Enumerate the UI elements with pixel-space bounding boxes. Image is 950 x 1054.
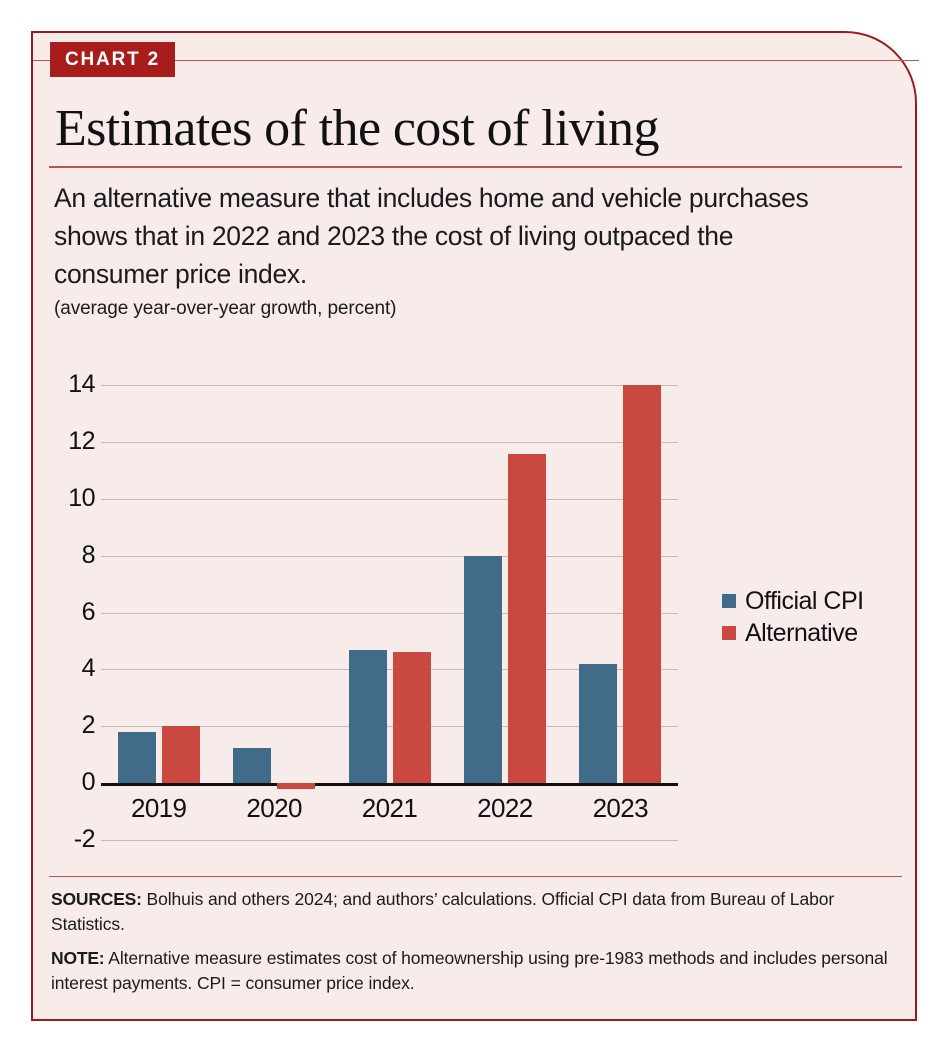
bar-alternative-2021 bbox=[393, 652, 431, 783]
y-axis-tick-label: -2 bbox=[43, 825, 95, 854]
legend-item[interactable]: Alternative bbox=[722, 617, 864, 649]
gridline bbox=[101, 556, 678, 557]
x-axis-tick-label: 2023 bbox=[560, 793, 680, 824]
y-axis-tick-label: 14 bbox=[43, 370, 95, 399]
y-axis-tick-label: 12 bbox=[43, 427, 95, 456]
sources-text: Bolhuis and others 2024; and authors’ ca… bbox=[51, 889, 834, 934]
bar-alternative-2022 bbox=[508, 454, 546, 783]
x-axis-tick-label: 2022 bbox=[445, 793, 565, 824]
gridline bbox=[101, 442, 678, 443]
chart-legend: Official CPIAlternative bbox=[722, 585, 864, 649]
sources-note: SOURCES: Bolhuis and others 2024; and au… bbox=[51, 887, 894, 937]
legend-item[interactable]: Official CPI bbox=[722, 585, 864, 617]
bar-official-cpi-2021 bbox=[349, 650, 387, 783]
y-axis-tick-label: 8 bbox=[43, 541, 95, 570]
y-axis-tick-label: 4 bbox=[43, 654, 95, 683]
y-axis-tick-label: 0 bbox=[43, 768, 95, 797]
y-axis-tick-label: 10 bbox=[43, 484, 95, 513]
sources-label: SOURCES: bbox=[51, 889, 142, 909]
bar-official-cpi-2020 bbox=[233, 748, 271, 784]
gridline bbox=[101, 613, 678, 614]
zero-axis-line bbox=[101, 783, 678, 786]
x-axis-tick-label: 2021 bbox=[330, 793, 450, 824]
bar-alternative-2020 bbox=[277, 783, 315, 789]
note-text: Alternative measure estimates cost of ho… bbox=[51, 948, 888, 993]
x-axis-tick-label: 2019 bbox=[99, 793, 219, 824]
bar-official-cpi-2022 bbox=[464, 556, 502, 783]
chart-note: NOTE: Alternative measure estimates cost… bbox=[51, 946, 894, 996]
legend-swatch-icon bbox=[722, 594, 736, 608]
bar-alternative-2019 bbox=[162, 726, 200, 783]
bar-official-cpi-2023 bbox=[579, 664, 617, 783]
legend-label: Alternative bbox=[745, 619, 858, 648]
bar-alternative-2023 bbox=[623, 385, 661, 783]
bar-official-cpi-2019 bbox=[118, 732, 156, 783]
chart-card: CHART 2 Estimates of the cost of living … bbox=[31, 31, 917, 1021]
gridline bbox=[101, 840, 678, 841]
gridline bbox=[101, 385, 678, 386]
footer-divider bbox=[49, 876, 902, 877]
gridline bbox=[101, 499, 678, 500]
legend-label: Official CPI bbox=[745, 587, 864, 616]
x-axis-tick-label: 2020 bbox=[214, 793, 334, 824]
note-label: NOTE: bbox=[51, 948, 104, 968]
y-axis-tick-label: 2 bbox=[43, 711, 95, 740]
legend-swatch-icon bbox=[722, 626, 736, 640]
y-axis-tick-label: 6 bbox=[43, 598, 95, 627]
bar-chart-plot: 14121086420-2 20192020202120222023 bbox=[33, 33, 919, 1023]
